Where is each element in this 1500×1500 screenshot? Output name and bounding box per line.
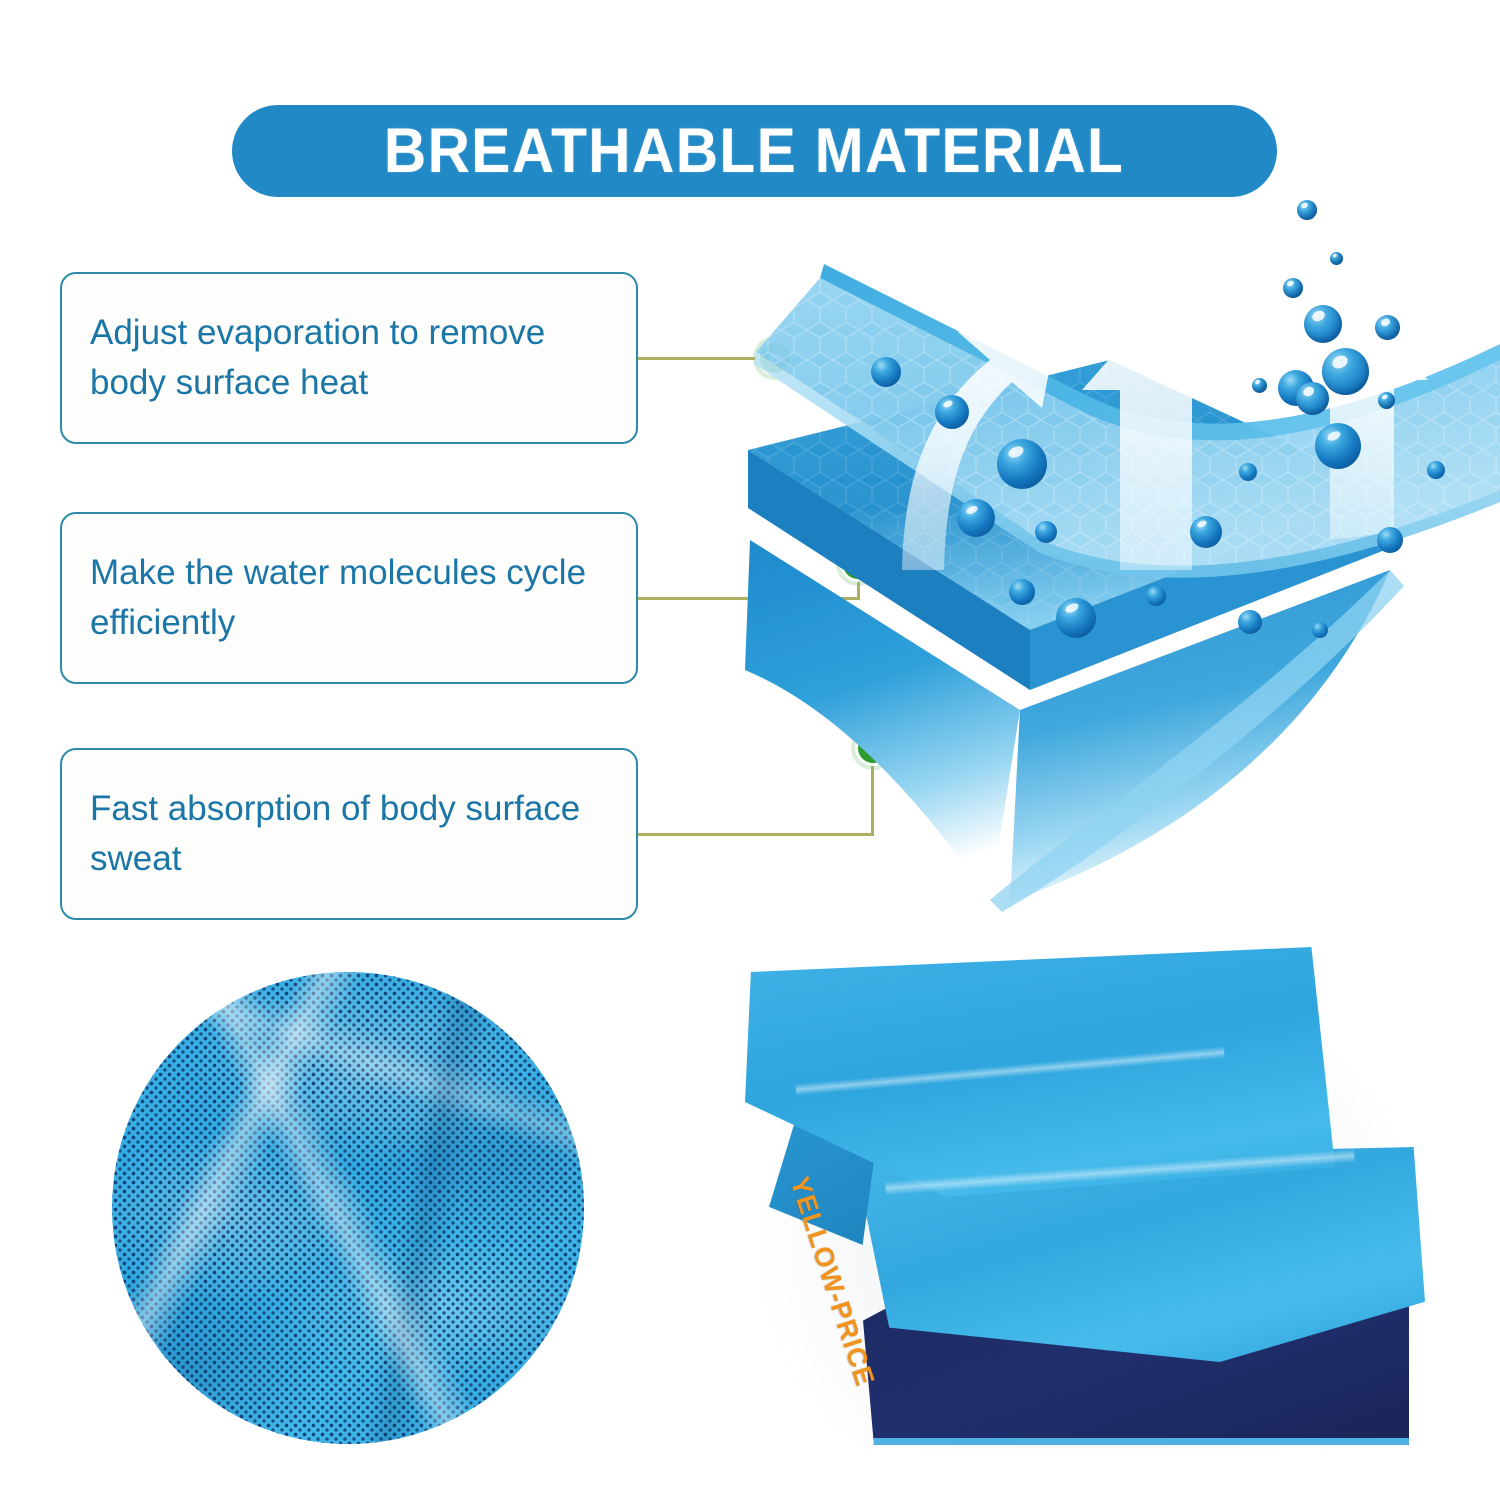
bubble [1375, 315, 1400, 340]
bubble [1378, 392, 1395, 409]
feature-label-absorption: Fast absorption of body surface sweat [90, 784, 608, 883]
bubble [1252, 378, 1267, 393]
fabric-folds [112, 972, 584, 1444]
bubble [1330, 252, 1343, 265]
page-title: BREATHABLE MATERIAL [384, 120, 1124, 183]
title-banner: BREATHABLE MATERIAL [232, 105, 1277, 197]
fabric-layers-illustration [690, 240, 1500, 930]
infographic-page: BREATHABLE MATERIAL Adjust evaporation t… [0, 0, 1500, 1500]
feature-label-evaporation: Adjust evaporation to remove body surfac… [90, 308, 608, 407]
bubble [1304, 305, 1342, 343]
feature-box-water-cycle: Make the water molecules cycle efficient… [60, 512, 638, 684]
bubble [1322, 348, 1369, 395]
feature-box-absorption: Fast absorption of body surface sweat [60, 748, 638, 920]
bubble [1297, 200, 1317, 220]
feature-box-evaporation: Adjust evaporation to remove body surfac… [60, 272, 638, 444]
feature-label-water-cycle: Make the water molecules cycle efficient… [90, 548, 608, 647]
fabric-closeup-swatch [112, 972, 584, 1444]
bubble [1283, 278, 1303, 298]
bubble [1296, 382, 1329, 415]
towel-product-photo: YELLOW-PRICE [735, 915, 1455, 1485]
towel-trim-edge [863, 1438, 1409, 1445]
